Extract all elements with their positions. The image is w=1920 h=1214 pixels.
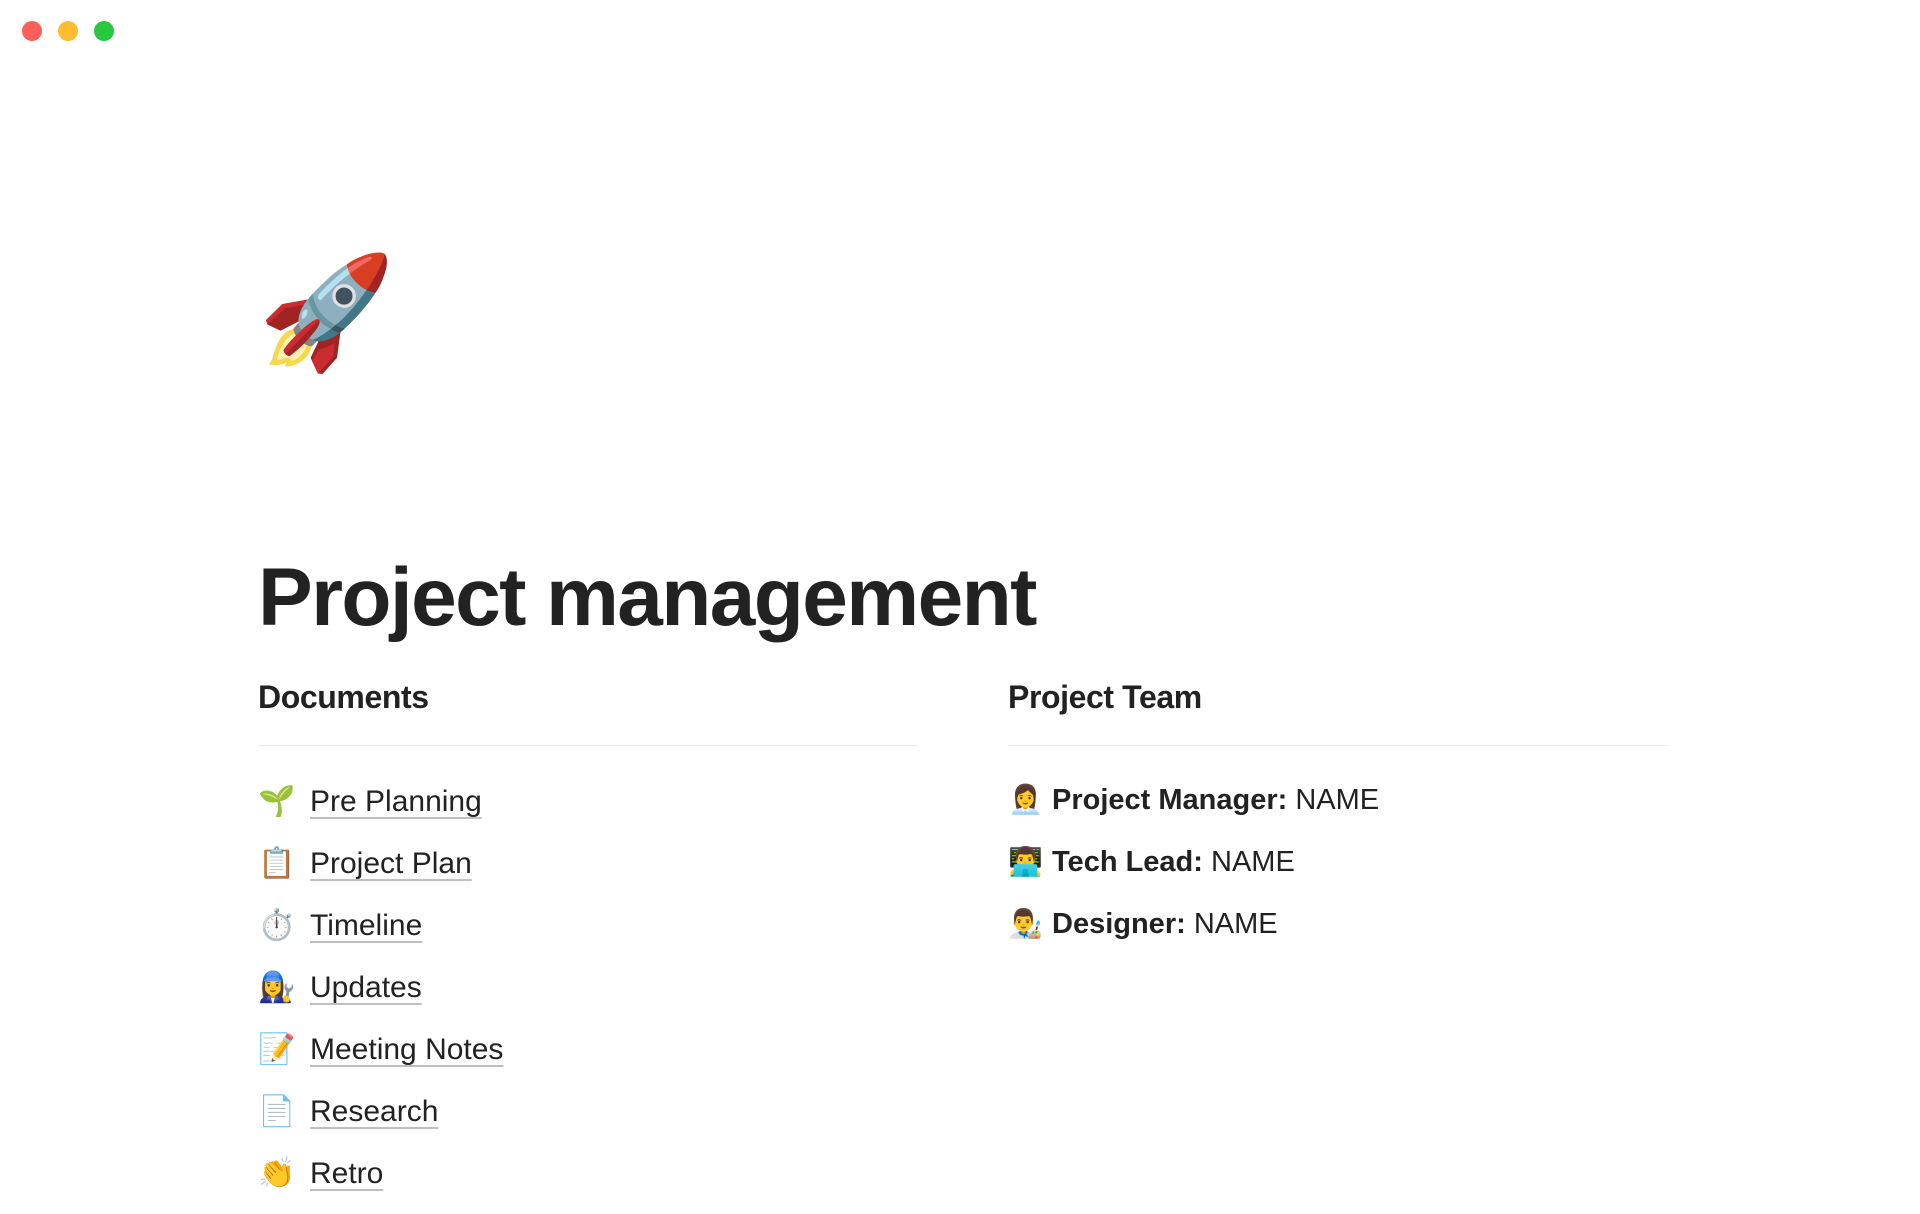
list-item[interactable]: 📄 Research: [258, 1090, 918, 1134]
clapping-hands-icon: 👏: [258, 1159, 296, 1189]
project-team-divider: [1008, 745, 1668, 746]
list-item[interactable]: 👏 Retro: [258, 1152, 918, 1196]
list-item[interactable]: ⏱️ Timeline: [258, 904, 918, 948]
list-item: 👨‍🎨 Designer: NAME: [1008, 904, 1668, 944]
team-member-name: NAME: [1211, 846, 1295, 878]
team-role-label: Tech Lead:: [1052, 846, 1203, 878]
documents-column: Documents 🌱 Pre Planning 📋 Project Plan …: [258, 680, 918, 1214]
document-link-retro[interactable]: Retro: [310, 1156, 383, 1192]
minimize-window-button[interactable]: [58, 21, 78, 41]
man-technologist-icon: 👨‍💻: [1008, 848, 1042, 876]
document-link-timeline[interactable]: Timeline: [310, 908, 422, 944]
document-link-research[interactable]: Research: [310, 1094, 438, 1130]
close-window-button[interactable]: [22, 21, 42, 41]
team-member-name: NAME: [1194, 908, 1278, 940]
document-link-meeting-notes[interactable]: Meeting Notes: [310, 1032, 503, 1068]
project-team-heading: Project Team: [1008, 680, 1668, 715]
seedling-icon: 🌱: [258, 787, 296, 817]
document-link-pre-planning[interactable]: Pre Planning: [310, 784, 482, 820]
memo-icon: 📝: [258, 1035, 296, 1065]
traffic-light-group: [22, 21, 114, 41]
team-role-label: Designer:: [1052, 908, 1186, 940]
rocket-icon[interactable]: 🚀: [258, 258, 395, 368]
team-member-project-manager: Project Manager: NAME: [1052, 783, 1379, 818]
documents-divider: [258, 745, 918, 746]
documents-list: 🌱 Pre Planning 📋 Project Plan ⏱️ Timelin…: [258, 780, 918, 1196]
page-title[interactable]: Project management: [258, 557, 1036, 639]
document-link-updates[interactable]: Updates: [310, 970, 422, 1006]
document-link-project-plan[interactable]: Project Plan: [310, 846, 472, 882]
team-role-label: Project Manager:: [1052, 784, 1287, 816]
maximize-window-button[interactable]: [94, 21, 114, 41]
list-item: 👨‍💻 Tech Lead: NAME: [1008, 842, 1668, 882]
list-item: 👩‍💼 Project Manager: NAME: [1008, 780, 1668, 820]
team-member-name: NAME: [1295, 784, 1379, 816]
list-item[interactable]: 🌱 Pre Planning: [258, 780, 918, 824]
list-item[interactable]: 📝 Meeting Notes: [258, 1028, 918, 1072]
project-team-list: 👩‍💼 Project Manager: NAME 👨‍💻 Tech Lead:…: [1008, 780, 1668, 944]
page-facing-up-icon: 📄: [258, 1097, 296, 1127]
team-member-tech-lead: Tech Lead: NAME: [1052, 845, 1295, 880]
page-canvas: 🚀 Project management Documents 🌱 Pre Pla…: [0, 62, 1920, 1200]
project-team-column: Project Team 👩‍💼 Project Manager: NAME 👨…: [1008, 680, 1668, 1214]
window-title-bar: [0, 0, 1920, 62]
team-member-designer: Designer: NAME: [1052, 907, 1278, 942]
list-item[interactable]: 👩‍🔧 Updates: [258, 966, 918, 1010]
documents-heading: Documents: [258, 680, 918, 715]
man-artist-icon: 👨‍🎨: [1008, 910, 1042, 938]
stopwatch-icon: ⏱️: [258, 911, 296, 941]
clipboard-icon: 📋: [258, 849, 296, 879]
woman-office-worker-icon: 👩‍💼: [1008, 786, 1042, 814]
list-item[interactable]: 📋 Project Plan: [258, 842, 918, 886]
woman-mechanic-icon: 👩‍🔧: [258, 973, 296, 1003]
content-columns: Documents 🌱 Pre Planning 📋 Project Plan …: [258, 680, 1678, 1214]
